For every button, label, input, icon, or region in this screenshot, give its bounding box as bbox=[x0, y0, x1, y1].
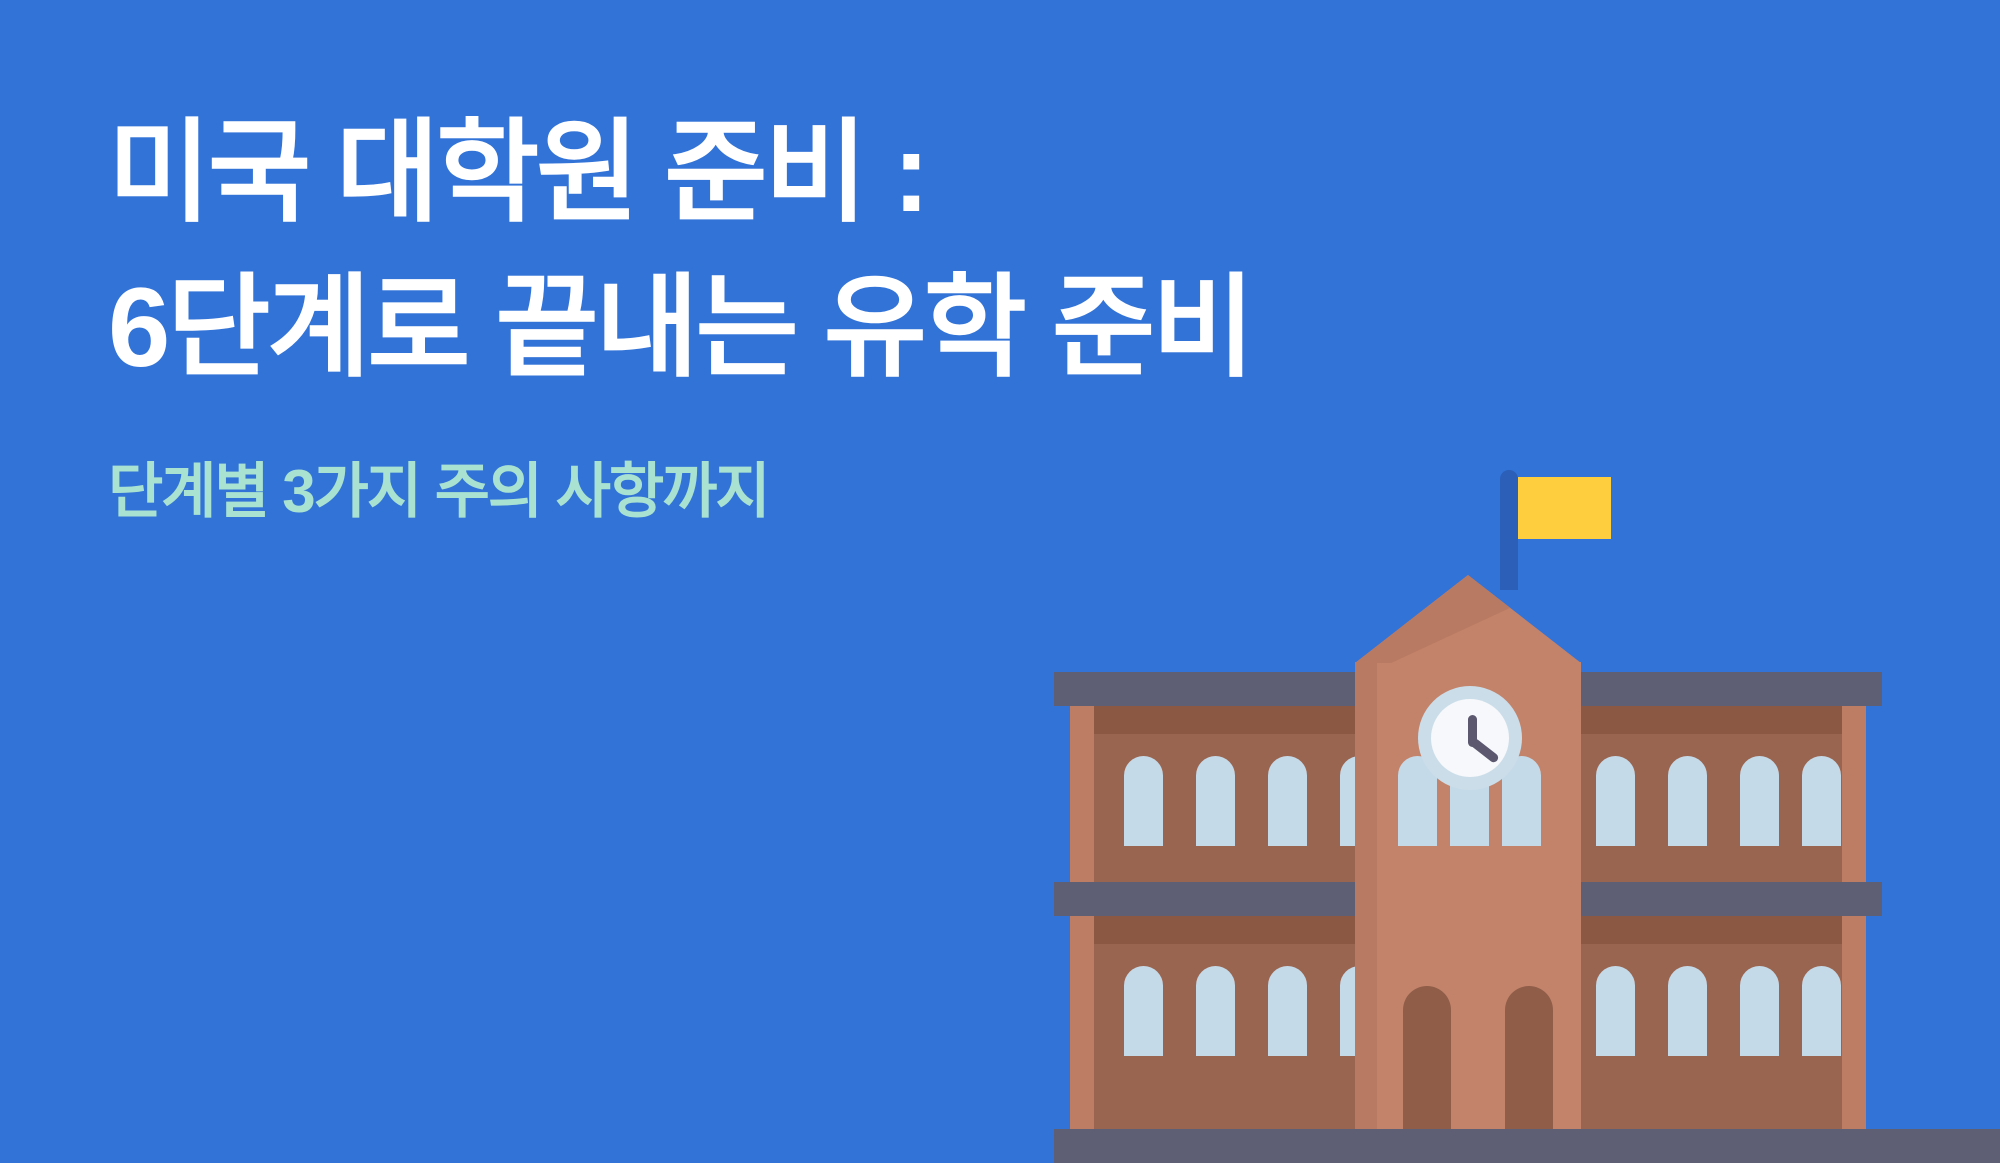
wing-left-upper-shade bbox=[1094, 706, 1360, 734]
window-lower-1 bbox=[1124, 966, 1163, 1056]
window-lower-2 bbox=[1196, 966, 1235, 1056]
window-lower-3 bbox=[1268, 966, 1307, 1056]
cornice-band-mid-left bbox=[1054, 882, 1360, 916]
window-upper-7 bbox=[1668, 756, 1707, 846]
headline-block: 미국 대학원 준비 : 6단계로 끝내는 유학 준비 단계별 3가지 주의 사항… bbox=[108, 96, 1308, 530]
cornice-band-top-left bbox=[1054, 672, 1360, 706]
flag-cloth-icon bbox=[1518, 477, 1611, 539]
window-upper-8 bbox=[1740, 756, 1779, 846]
cornice-band-top-right bbox=[1576, 672, 1882, 706]
window-lower-6 bbox=[1668, 966, 1707, 1056]
wing-right-lower-shade bbox=[1576, 916, 1842, 944]
base-plinth-band bbox=[1054, 1129, 2000, 1163]
poster-canvas: 미국 대학원 준비 : 6단계로 끝내는 유학 준비 단계별 3가지 주의 사항… bbox=[0, 0, 2000, 1163]
window-lower-7 bbox=[1740, 966, 1779, 1056]
window-lower-5 bbox=[1596, 966, 1635, 1056]
title-line-1: 미국 대학원 준비 : bbox=[108, 96, 1308, 251]
cornice-band-mid-right bbox=[1576, 882, 1882, 916]
wing-right-edge bbox=[1842, 706, 1866, 1163]
wing-left-edge bbox=[1070, 706, 1094, 1163]
clock-tower-shade bbox=[1355, 662, 1377, 1163]
title-line-2: 6단계로 끝내는 유학 준비 bbox=[108, 251, 1308, 406]
window-upper-1 bbox=[1124, 756, 1163, 846]
wing-right-upper-shade bbox=[1576, 706, 1842, 734]
window-upper-3 bbox=[1268, 756, 1307, 846]
window-lower-8 bbox=[1802, 966, 1841, 1056]
flag-pole-icon bbox=[1500, 470, 1518, 590]
window-upper-2 bbox=[1196, 756, 1235, 846]
wing-left-lower-shade bbox=[1094, 916, 1360, 944]
window-upper-6 bbox=[1596, 756, 1635, 846]
window-upper-9 bbox=[1802, 756, 1841, 846]
university-building-illustration bbox=[1040, 470, 2000, 1163]
